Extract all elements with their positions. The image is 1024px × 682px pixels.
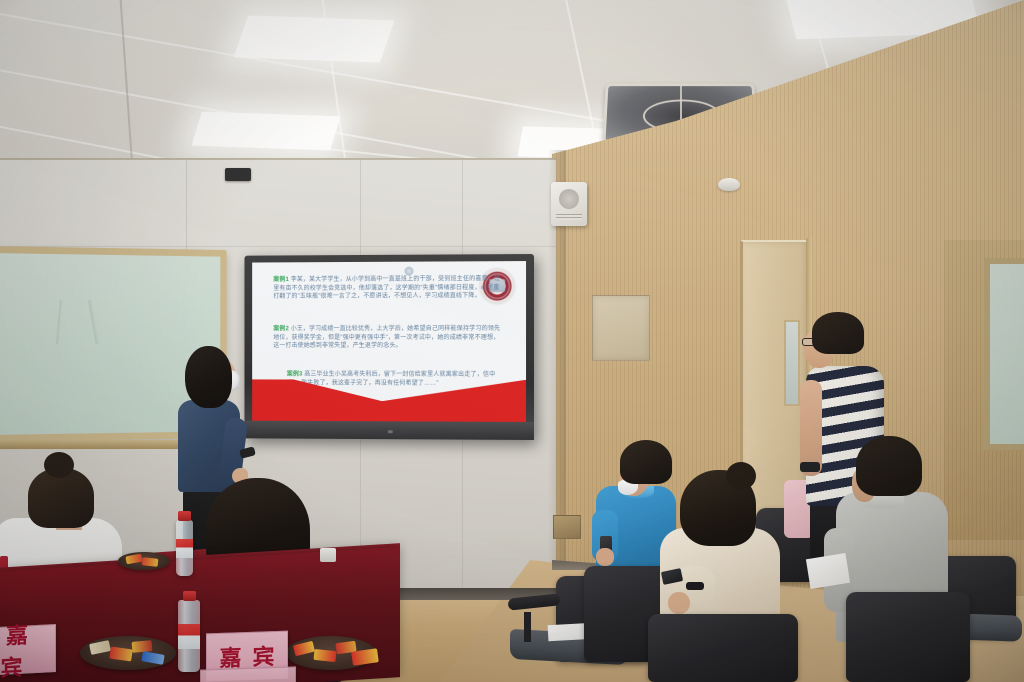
name-card-1: 嘉宾 <box>0 624 56 676</box>
case-tag-2: 案例2 <box>273 325 289 332</box>
whiteboard-right[interactable] <box>984 258 1024 450</box>
ceiling-light-2 <box>192 112 341 151</box>
snack-plate-1[interactable] <box>80 636 176 670</box>
ceiling-light-1 <box>234 15 395 62</box>
bottle-cap <box>183 591 196 601</box>
case-tag-1: 案例1 <box>273 276 289 283</box>
case-text-1: 李某，某大学学生，从小学到高中一直是班上的干部，受到班主任的喜爱，班里有亩不久的… <box>273 275 500 300</box>
slide-paragraph-2: 案例2 小王，学习成绩一直比较优秀，上大学后，她希望自己同样能保持学习的领先地位… <box>273 325 504 351</box>
wall-access-panel <box>592 295 650 361</box>
name-card-subtitle <box>207 636 287 639</box>
water-bottle-2[interactable] <box>178 600 200 672</box>
classroom-scene: 案例1 李某，某大学学生，从小学到高中一直是班上的干部，受到班主任的喜爱，班里有… <box>0 0 1024 682</box>
wristwatch-icon <box>686 582 704 590</box>
chair-occupied-cream[interactable] <box>648 614 798 682</box>
handout-paper[interactable] <box>806 553 850 589</box>
slide-marker-dot <box>405 267 414 276</box>
door-vision-panel <box>784 320 800 406</box>
candy <box>125 554 142 565</box>
wristwatch-icon <box>800 462 820 472</box>
hair <box>812 312 864 354</box>
wall-speaker-icon <box>551 182 587 226</box>
hair <box>856 436 922 496</box>
slide-screen[interactable]: 案例1 李某，某大学学生，从小学到高中一直是班上的干部，受到班主任的喜爱，班里有… <box>252 261 526 422</box>
power-led-icon <box>388 430 393 433</box>
case-text-2: 小王，学习成绩一直比较优秀，上大学后，她希望自己同样能保持学习的领先地位，获得奖… <box>273 325 500 349</box>
hand <box>668 592 690 614</box>
candy <box>313 649 336 662</box>
whiteboard-marks <box>48 300 158 344</box>
chair-leg-1 <box>524 612 531 642</box>
name-card-3 <box>200 666 296 682</box>
candy <box>142 557 159 567</box>
candy <box>141 651 164 665</box>
interactive-flat-panel[interactable]: 案例1 李某，某大学学生，从小学到高中一直是班上的干部，受到班主任的喜爱，班里有… <box>244 254 534 440</box>
snack-plate-3[interactable] <box>118 552 170 570</box>
bottle-cap <box>178 511 191 521</box>
name-card-text: 嘉宾 <box>0 616 55 682</box>
hair-bun <box>44 452 74 478</box>
slide-red-band-2 <box>252 379 423 421</box>
hair <box>620 440 672 484</box>
motion-sensor-icon <box>225 168 251 181</box>
slide-paragraph-1: 案例1 李某，某大学学生，从小学到高中一直是班上的干部，受到班主任的喜爱，班里有… <box>273 275 504 302</box>
wall-outlet-panel <box>553 515 581 539</box>
candy <box>89 640 111 655</box>
hair-bun <box>726 462 756 490</box>
water-bottle-1[interactable] <box>176 520 193 576</box>
cup-1[interactable] <box>320 548 336 562</box>
chair-occupied-right[interactable] <box>846 592 970 682</box>
hair <box>185 346 232 408</box>
candy <box>132 640 153 653</box>
candy <box>109 647 132 662</box>
hand <box>596 548 614 566</box>
case-tag-3: 案例3 <box>287 371 303 378</box>
bottle-label <box>176 539 193 558</box>
display-bezel-bottom <box>244 421 534 440</box>
bottle-label <box>178 624 200 648</box>
candy <box>293 641 315 657</box>
smoke-detector-icon <box>718 178 740 191</box>
